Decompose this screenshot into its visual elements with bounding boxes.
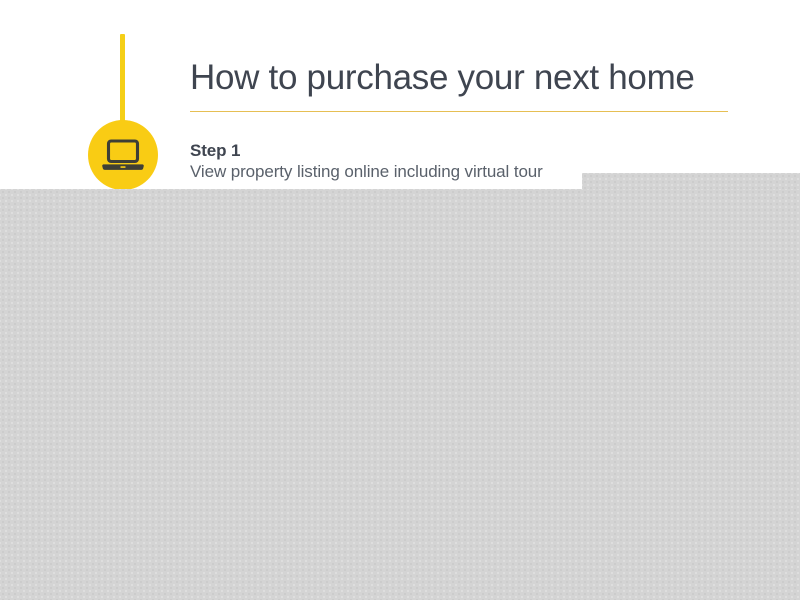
- loading-mask-body: [0, 189, 800, 600]
- step-description: View property listing online including v…: [190, 161, 730, 183]
- step-icon-badge: [88, 120, 158, 190]
- slide-canvas: How to purchase your next home Step 1 Vi…: [0, 0, 800, 600]
- step-label: Step 1: [190, 140, 730, 161]
- step-block: Step 1 View property listing online incl…: [190, 140, 730, 183]
- title-divider: [190, 111, 728, 112]
- heading-block: How to purchase your next home: [190, 56, 730, 100]
- laptop-icon: [101, 138, 145, 172]
- connector-line: [120, 34, 125, 134]
- page-title: How to purchase your next home: [190, 56, 730, 100]
